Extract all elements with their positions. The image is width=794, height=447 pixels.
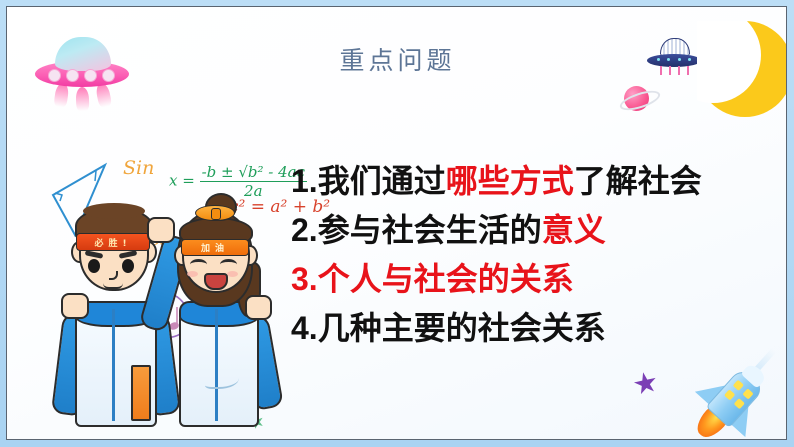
girl-blush-right bbox=[227, 271, 238, 277]
boy-eye-right bbox=[122, 259, 134, 273]
ufo-dome bbox=[55, 37, 111, 71]
sin-doodle: Sin bbox=[123, 157, 154, 179]
ufo-porthole bbox=[48, 69, 61, 82]
girl-eye-left bbox=[190, 259, 207, 270]
bullet-text-highlight: 个人与社会的关系 bbox=[318, 261, 574, 297]
ufo-light bbox=[688, 58, 691, 61]
list-item: 3.个人与社会的关系 bbox=[291, 255, 761, 304]
bullet-number: 3. bbox=[291, 261, 318, 297]
crescent-moon-icon bbox=[697, 21, 787, 121]
bullet-text-segment: 我们通过 bbox=[318, 163, 446, 199]
key-questions-list: 1.我们通过哪些方式了解社会 2.参与社会生活的意义 3.个人与社会的关系 4.… bbox=[291, 157, 761, 353]
boy-headband: 必胜! bbox=[76, 233, 150, 251]
list-item: 4.几种主要的社会关系 bbox=[291, 304, 761, 353]
rocket-icon bbox=[671, 344, 787, 440]
students-illustration: Sin Cos x = -b ± √b² - 4ac 2a c² = a² + … bbox=[41, 135, 291, 427]
bullet-text-segment: 参与社会生活的 bbox=[318, 212, 542, 248]
ufo-ray bbox=[660, 66, 662, 75]
ufo-light bbox=[667, 58, 670, 61]
girl-headband: 加油 bbox=[181, 239, 249, 256]
ufo-porthole bbox=[102, 69, 115, 82]
boy-book bbox=[131, 365, 151, 421]
list-item: 1.我们通过哪些方式了解社会 bbox=[291, 157, 761, 206]
boy-eye-left bbox=[88, 259, 100, 273]
girl-hair-bow bbox=[195, 205, 235, 221]
bullet-number: 2. bbox=[291, 212, 318, 248]
planet-icon bbox=[619, 82, 657, 114]
bullet-text-highlight: 哪些方式 bbox=[446, 163, 574, 199]
girl-mouth bbox=[204, 273, 228, 290]
bullet-text-highlight: 意义 bbox=[542, 212, 606, 248]
girl-blush-left bbox=[187, 271, 198, 277]
girl-right-fist bbox=[245, 295, 272, 320]
quadratic-lhs: x = bbox=[169, 172, 195, 190]
ufo-porthole bbox=[84, 69, 97, 82]
slide-outer-frame: 重点问题 bbox=[0, 0, 794, 447]
girl-eye-right bbox=[220, 259, 237, 270]
bullet-text-segment: 几种主要的社会关系 bbox=[318, 310, 606, 346]
ufo-light bbox=[657, 58, 660, 61]
ufo-beam bbox=[76, 87, 90, 111]
boy-mouth bbox=[103, 283, 123, 289]
star-purple-icon bbox=[632, 370, 659, 397]
girl-raised-fist bbox=[147, 217, 175, 243]
girl-zipper bbox=[215, 309, 218, 421]
ufo-light bbox=[678, 58, 681, 61]
ufo-ray bbox=[678, 66, 680, 75]
ufo-ray bbox=[669, 66, 671, 75]
bullet-text-segment: 了解社会 bbox=[574, 163, 702, 199]
bullet-number: 4. bbox=[291, 310, 318, 346]
boy-zipper bbox=[112, 309, 115, 421]
student-girl: 加油 bbox=[157, 195, 279, 425]
ufo-small-icon bbox=[647, 38, 701, 78]
ufo-ray bbox=[687, 66, 689, 75]
list-item: 2.参与社会生活的意义 bbox=[291, 206, 761, 255]
boy-fist bbox=[61, 293, 89, 319]
ufo-body bbox=[647, 54, 701, 67]
ufo-porthole bbox=[66, 69, 79, 82]
slide-canvas: 重点问题 bbox=[6, 6, 787, 440]
bullet-number: 1. bbox=[291, 163, 318, 199]
ufo-large-icon bbox=[31, 35, 131, 107]
